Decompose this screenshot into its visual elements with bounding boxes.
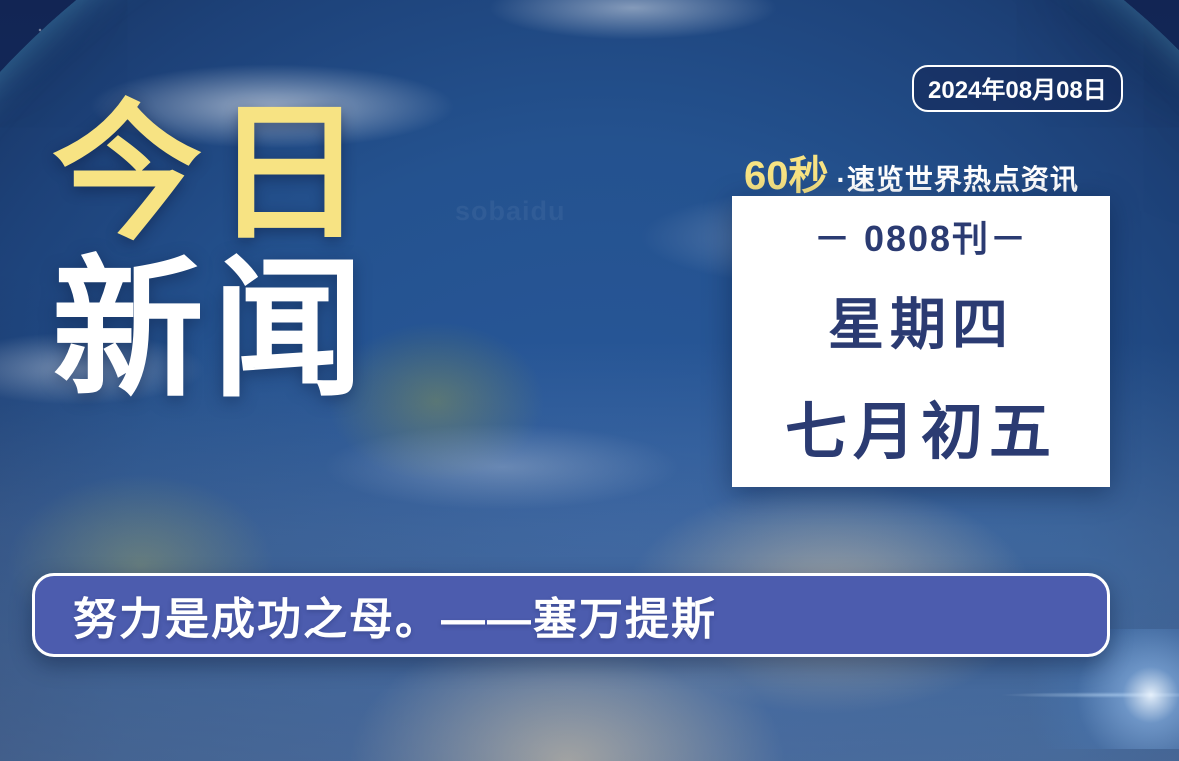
weekday-label: 星期四 [828,280,1014,361]
brand-title-line1: 今日 [52,98,376,248]
watermark-text: sobaidu [455,196,566,227]
issue-number: － 0808刊－ [814,210,1028,262]
lunar-date-label: 七月初五 [785,381,1057,471]
news-poster: sobaidu 今日 新闻 2024年08月08日 60秒 ·速览世界热点资讯 … [0,0,1179,761]
quote-banner: 努力是成功之母。——塞万提斯 [32,573,1110,657]
brand-title: 今日 新闻 [52,98,376,406]
tagline-highlight: 60秒 [744,143,829,201]
brand-title-line2: 新闻 [52,254,376,406]
quote-text: 努力是成功之母。——塞万提斯 [73,583,717,647]
tagline: 60秒 ·速览世界热点资讯 [744,143,1079,201]
date-info-card: － 0808刊－ 星期四 七月初五 [732,196,1110,487]
tagline-rest: ·速览世界热点资讯 [837,158,1079,198]
date-badge: 2024年08月08日 [912,65,1123,112]
